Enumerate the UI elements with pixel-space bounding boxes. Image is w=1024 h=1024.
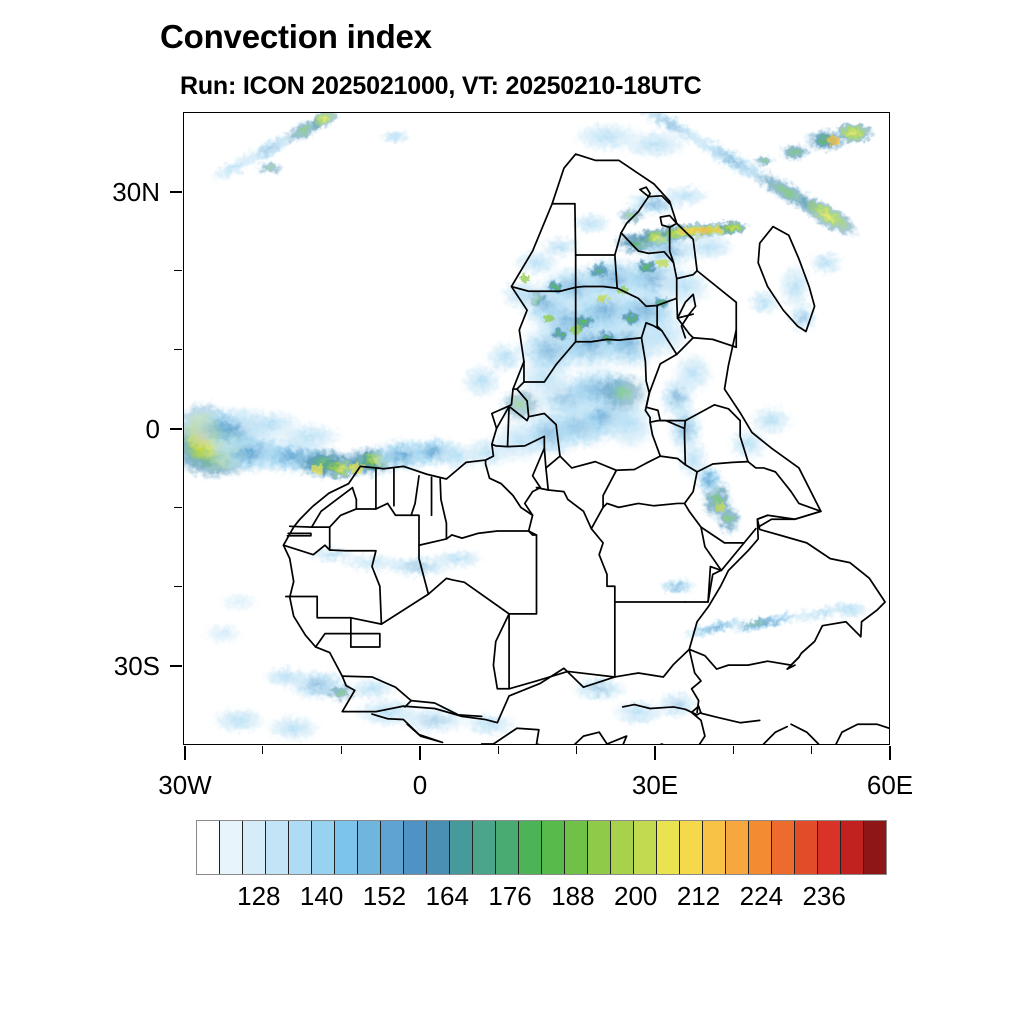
colorbar-cell (772, 821, 795, 874)
colorbar-cell (519, 821, 542, 874)
colorbar-cell (565, 821, 588, 874)
map-panel[interactable] (183, 112, 890, 745)
colorbar-cell (795, 821, 818, 874)
colorbar-cell (588, 821, 611, 874)
colorbar-cell (335, 821, 358, 874)
y-tick-10N (174, 349, 182, 350)
colorbar-cell (427, 821, 450, 874)
colorbar-cell (266, 821, 289, 874)
colorbar[interactable] (196, 820, 887, 875)
y-tick-30N (170, 191, 182, 193)
y-tick-20S (174, 586, 182, 587)
figure-root: Convection index Run: ICON 2025021000, V… (0, 0, 1024, 1024)
x-tick-30E (654, 746, 656, 760)
colorbar-cell (473, 821, 496, 874)
y-label-0: 0 (30, 416, 160, 442)
colorbar-cell (864, 821, 886, 874)
colorbar-labels: 128140152164176188200212224236 (196, 883, 887, 923)
colorbar-cell (818, 821, 841, 874)
y-tick-0 (170, 428, 182, 430)
y-tick-30S (170, 665, 182, 667)
colorbar-cell (450, 821, 473, 874)
x-tick-20W (262, 746, 263, 754)
x-tick-60E (889, 746, 891, 760)
colorbar-cell (220, 821, 243, 874)
colorbar-cell (312, 821, 335, 874)
x-label-60E: 60E (820, 772, 960, 798)
y-label-30S: 30S (30, 653, 160, 679)
colorbar-cell (680, 821, 703, 874)
x-label-0: 0 (350, 772, 490, 798)
colorbar-tick-label: 236 (774, 883, 874, 909)
x-tick-10W (341, 746, 342, 754)
map-canvas (184, 113, 889, 744)
colorbar-cell (749, 821, 772, 874)
colorbar-cell (197, 821, 220, 874)
colorbar-cell (634, 821, 657, 874)
colorbar-cell (611, 821, 634, 874)
convection-field (184, 113, 876, 744)
x-tick-20E (576, 746, 577, 754)
page-subtitle: Run: ICON 2025021000, VT: 20250210-18UTC (180, 72, 701, 101)
page-title: Convection index (160, 18, 432, 56)
colorbar-cell (496, 821, 519, 874)
y-tick-10S (174, 507, 182, 508)
x-tick-40E (733, 746, 734, 754)
colorbar-cell (542, 821, 565, 874)
colorbar-cell (404, 821, 427, 874)
x-tick-30W (184, 746, 186, 760)
colorbar-cell (841, 821, 864, 874)
colorbar-cell (703, 821, 726, 874)
colorbar-cell (657, 821, 680, 874)
colorbar-cell (726, 821, 749, 874)
x-tick-50E (811, 746, 812, 754)
colorbar-cell (243, 821, 266, 874)
colorbar-cell (289, 821, 312, 874)
x-label-30W: 30W (115, 772, 255, 798)
colorbar-cell (358, 821, 381, 874)
colorbar-cell (381, 821, 404, 874)
y-tick-20N (174, 270, 182, 271)
x-tick-10E (498, 746, 499, 754)
y-label-30N: 30N (30, 179, 160, 205)
x-label-30E: 30E (585, 772, 725, 798)
x-tick-0 (419, 746, 421, 760)
